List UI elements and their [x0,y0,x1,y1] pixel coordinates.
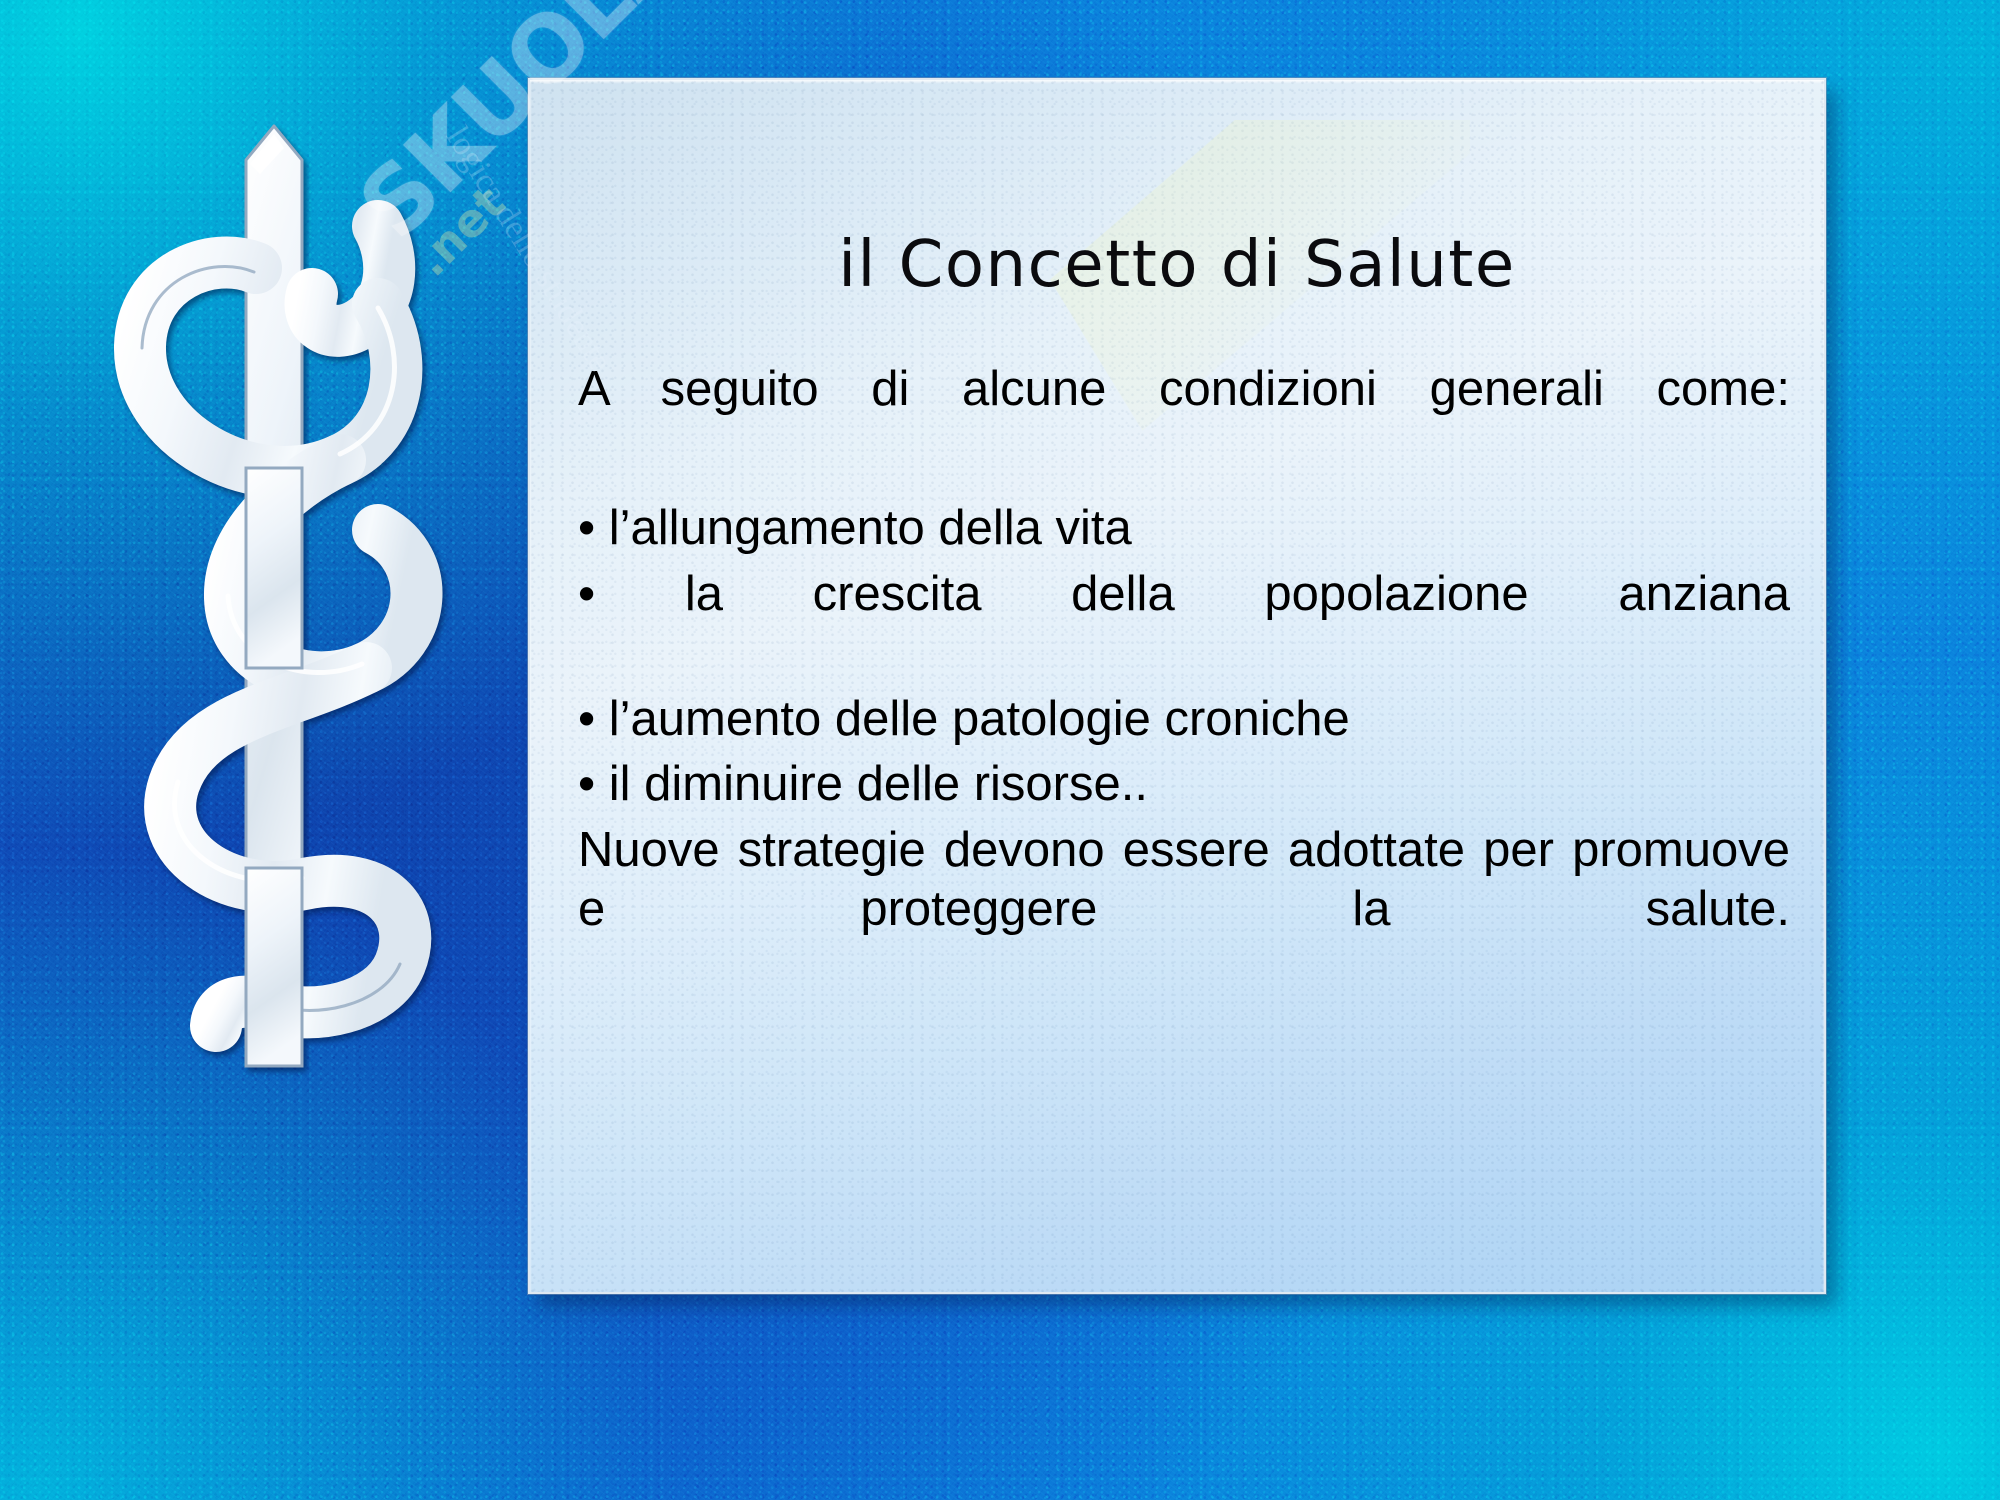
rod-of-asclepius-icon [78,108,448,1088]
spacer [578,485,1790,499]
list-item: • l’aumento delle patologie croniche [578,690,1790,750]
slide-canvas: il Concetto di Salute A seguito di alcun… [0,0,2000,1500]
conclusion-paragraph: Nuove strategie devono essere adottate p… [578,821,1790,1000]
intro-paragraph: A seguito di alcune condizioni generali … [578,360,1790,479]
page-title: il Concetto di Salute [530,233,1824,297]
content-panel: il Concetto di Salute A seguito di alcun… [528,78,1826,1294]
list-item: • la crescita della popolazione anziana [578,565,1790,684]
list-item: • l’allungamento della vita [578,499,1790,559]
slide-body: A seguito di alcune condizioni generali … [578,360,1790,1005]
list-item: • il diminuire delle risorse.. [578,755,1790,815]
